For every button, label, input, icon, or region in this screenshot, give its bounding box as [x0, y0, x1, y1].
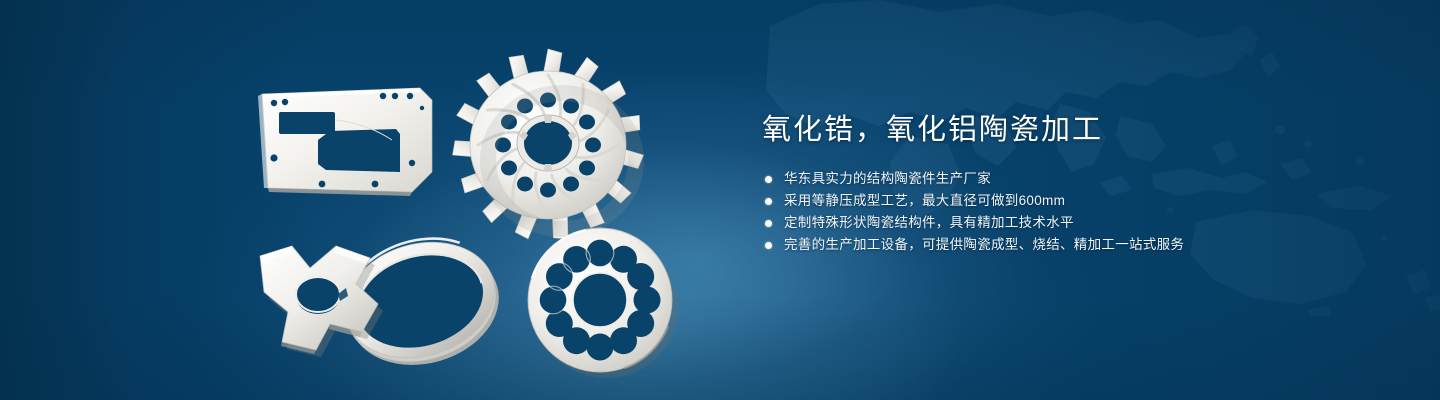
bullet-dot-icon: [765, 220, 772, 227]
list-item-label: 完善的生产加工设备，可提供陶瓷成型、烧结、精加工一站式服务: [784, 237, 1184, 252]
banner-copy-block: 氧化锆，氧化铝陶瓷加工 华东具实力的结构陶瓷件生产厂家 采用等静压成型工艺，最大…: [762, 112, 1322, 256]
list-item: 定制特殊形状陶瓷结构件，具有精加工技术水平: [762, 212, 1322, 234]
ceramic-machined-plate: [258, 88, 432, 196]
list-item: 采用等静压成型工艺，最大直径可做到600mm: [762, 190, 1322, 212]
list-item: 华东具实力的结构陶瓷件生产厂家: [762, 168, 1322, 190]
list-item-label: 定制特殊形状陶瓷结构件，具有精加工技术水平: [784, 215, 1074, 230]
list-item-label: 华东具实力的结构陶瓷件生产厂家: [784, 171, 991, 186]
ceramic-perforated-disc: [528, 228, 678, 378]
list-item-label: 采用等静压成型工艺，最大直径可做到600mm: [784, 193, 1065, 208]
bullet-dot-icon: [765, 198, 772, 205]
promo-banner: 氧化锆，氧化铝陶瓷加工 华东具实力的结构陶瓷件生产厂家 采用等静压成型工艺，最大…: [0, 0, 1440, 400]
feature-list: 华东具实力的结构陶瓷件生产厂家 采用等静压成型工艺，最大直径可做到600mm 定…: [762, 168, 1322, 256]
ceramic-impeller-disc: [451, 49, 644, 242]
bullet-dot-icon: [765, 242, 772, 249]
bullet-dot-icon: [765, 176, 772, 183]
page-title: 氧化锆，氧化铝陶瓷加工: [762, 112, 1322, 148]
list-item: 完善的生产加工设备，可提供陶瓷成型、烧结、精加工一站式服务: [762, 234, 1322, 256]
ceramic-products-image: [0, 0, 760, 400]
